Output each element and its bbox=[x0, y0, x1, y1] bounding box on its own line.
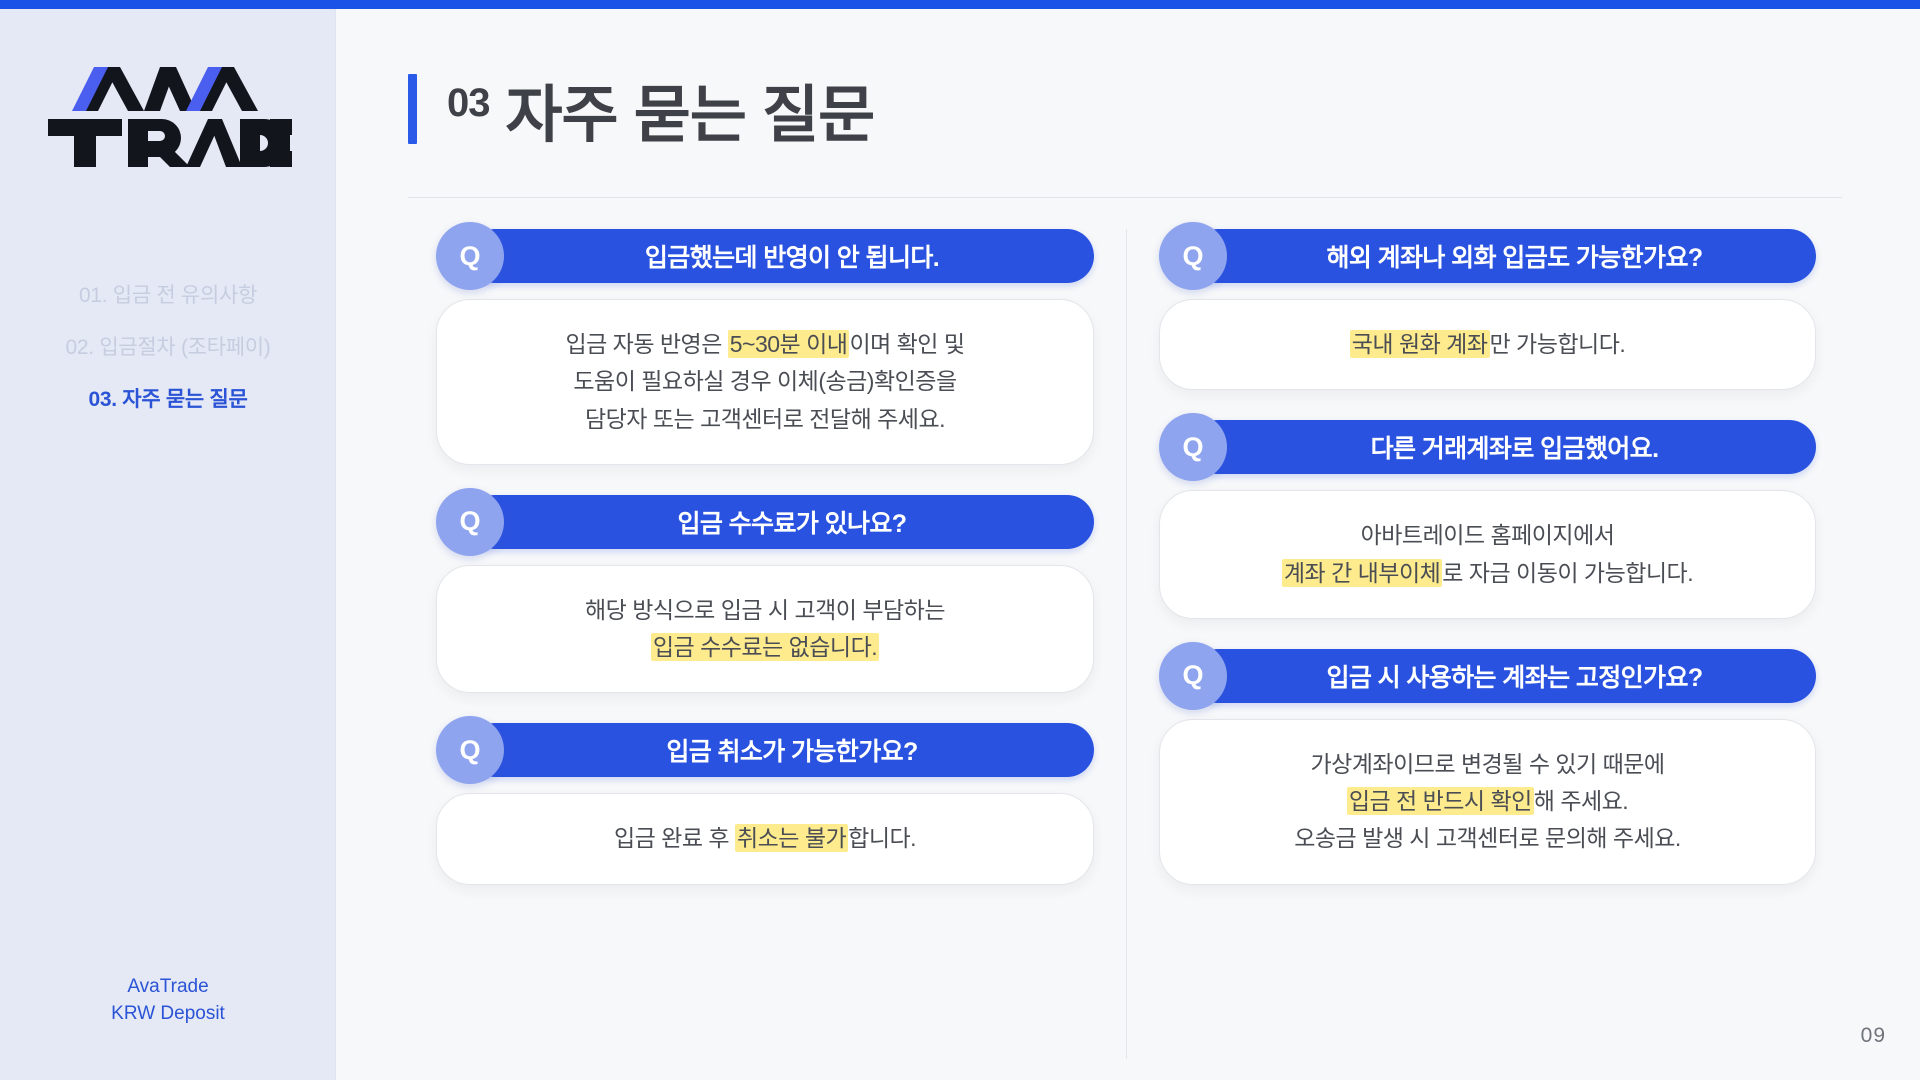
page-title-number: 03 bbox=[447, 81, 490, 126]
answer-text: 담당자 또는 고객센터로 전달해 주세요. bbox=[585, 406, 945, 432]
faq-answer-card: 가상계좌이므로 변경될 수 있기 때문에입금 전 반드시 확인해 주세요.오송금… bbox=[1159, 719, 1816, 885]
title-accent-bar bbox=[408, 74, 417, 144]
sidebar-footer-line2: KRW Deposit bbox=[0, 1000, 336, 1028]
faq-answer-card: 입금 자동 반영은 5~30분 이내이며 확인 및도움이 필요하실 경우 이체(… bbox=[436, 299, 1094, 465]
faq-answer-card: 국내 원화 계좌만 가능합니다. bbox=[1159, 299, 1816, 390]
faq-question-text: 입금했는데 반영이 안 됩니다. bbox=[605, 238, 957, 274]
question-badge-icon: Q bbox=[1159, 642, 1227, 710]
faq-question-text: 다른 거래계좌로 입금했어요. bbox=[1331, 429, 1677, 465]
highlighted-text: 5~30분 이내 bbox=[728, 330, 850, 358]
faq-answer-line: 국내 원화 계좌만 가능합니다. bbox=[1350, 326, 1626, 363]
answer-text: 입금 완료 후 bbox=[614, 825, 735, 851]
faq-answer-line: 계좌 간 내부이체로 자금 이동이 가능합니다. bbox=[1282, 555, 1693, 592]
faq-question-pill[interactable]: Q입금 시 사용하는 계좌는 고정인가요? bbox=[1191, 649, 1816, 703]
faq-answer-line: 입금 자동 반영은 5~30분 이내이며 확인 및 bbox=[565, 326, 964, 363]
faq-answer-line: 아바트레이드 홈페이지에서 bbox=[1361, 517, 1615, 554]
faq-question-pill[interactable]: Q입금 수수료가 있나요? bbox=[468, 495, 1094, 549]
page-title: 03 자주 묻는 질문 bbox=[447, 64, 874, 154]
answer-text: 오송금 발생 시 고객센터로 문의해 주세요. bbox=[1294, 825, 1681, 851]
question-badge-icon: Q bbox=[436, 488, 504, 556]
sidebar-footer: AvaTrade KRW Deposit bbox=[0, 973, 336, 1028]
faq-question-pill[interactable]: Q다른 거래계좌로 입금했어요. bbox=[1191, 420, 1816, 474]
faq-column-left: Q입금했는데 반영이 안 됩니다.입금 자동 반영은 5~30분 이내이며 확인… bbox=[404, 229, 1126, 1059]
logo-wrap bbox=[0, 53, 336, 171]
faq-column-right: Q해외 계좌나 외화 입금도 가능한가요?국내 원화 계좌만 가능합니다.Q다른… bbox=[1126, 229, 1848, 1059]
faq-answer-card: 아바트레이드 홈페이지에서계좌 간 내부이체로 자금 이동이 가능합니다. bbox=[1159, 490, 1816, 619]
sidebar-item-01[interactable]: 01. 입금 전 유의사항 bbox=[79, 279, 257, 309]
faq-block: Q입금 취소가 가능한가요?입금 완료 후 취소는 불가합니다. bbox=[436, 723, 1094, 884]
answer-text: 해 주세요. bbox=[1534, 788, 1628, 814]
question-badge-icon: Q bbox=[1159, 222, 1227, 290]
faq-answer-card: 해당 방식으로 입금 시 고객이 부담하는입금 수수료는 없습니다. bbox=[436, 565, 1094, 694]
faq-block: Q다른 거래계좌로 입금했어요.아바트레이드 홈페이지에서계좌 간 내부이체로 … bbox=[1159, 420, 1816, 619]
faq-answer-line: 가상계좌이므로 변경될 수 있기 때문에 bbox=[1310, 746, 1664, 783]
sidebar-footer-line1: AvaTrade bbox=[0, 973, 336, 1001]
answer-text: 만 가능합니다. bbox=[1490, 331, 1626, 357]
faq-block: Q입금했는데 반영이 안 됩니다.입금 자동 반영은 5~30분 이내이며 확인… bbox=[436, 229, 1094, 465]
highlighted-text: 입금 전 반드시 확인 bbox=[1347, 787, 1534, 815]
title-divider bbox=[408, 197, 1842, 198]
faq-answer-line: 입금 완료 후 취소는 불가합니다. bbox=[614, 820, 916, 857]
faq-answer-line: 오송금 발생 시 고객센터로 문의해 주세요. bbox=[1294, 820, 1681, 857]
page-title-text: 자주 묻는 질문 bbox=[506, 64, 875, 154]
question-badge-icon: Q bbox=[436, 716, 504, 784]
highlighted-text: 입금 수수료는 없습니다. bbox=[651, 633, 879, 661]
faq-answer-card: 입금 완료 후 취소는 불가합니다. bbox=[436, 793, 1094, 884]
avatrade-logo bbox=[44, 53, 292, 171]
highlighted-text: 국내 원화 계좌 bbox=[1350, 330, 1490, 358]
faq-question-pill[interactable]: Q입금했는데 반영이 안 됩니다. bbox=[468, 229, 1094, 283]
page-number: 09 bbox=[1861, 1024, 1886, 1048]
question-badge-icon: Q bbox=[1159, 413, 1227, 481]
faq-question-text: 입금 수수료가 있나요? bbox=[638, 504, 925, 540]
answer-text: 아바트레이드 홈페이지에서 bbox=[1361, 522, 1615, 548]
faq-answer-line: 입금 수수료는 없습니다. bbox=[651, 629, 879, 666]
faq-answer-line: 해당 방식으로 입금 시 고객이 부담하는 bbox=[585, 592, 945, 629]
faq-block: Q입금 수수료가 있나요?해당 방식으로 입금 시 고객이 부담하는입금 수수료… bbox=[436, 495, 1094, 694]
faq-question-text: 입금 취소가 가능한가요? bbox=[626, 732, 935, 768]
top-accent-bar bbox=[0, 0, 1920, 9]
answer-text: 입금 자동 반영은 bbox=[565, 331, 727, 357]
faq-question-pill[interactable]: Q해외 계좌나 외화 입금도 가능한가요? bbox=[1191, 229, 1816, 283]
faq-block: Q입금 시 사용하는 계좌는 고정인가요?가상계좌이므로 변경될 수 있기 때문… bbox=[1159, 649, 1816, 885]
answer-text: 로 자금 이동이 가능합니다. bbox=[1442, 560, 1693, 586]
faq-answer-line: 도움이 필요하실 경우 이체(송금)확인증을 bbox=[573, 363, 956, 400]
answer-text: 가상계좌이므로 변경될 수 있기 때문에 bbox=[1310, 751, 1664, 777]
sidebar-item-03[interactable]: 03. 자주 묻는 질문 bbox=[88, 383, 247, 413]
answer-text: 도움이 필요하실 경우 이체(송금)확인증을 bbox=[573, 368, 956, 394]
faq-question-pill[interactable]: Q입금 취소가 가능한가요? bbox=[468, 723, 1094, 777]
faq-grid: Q입금했는데 반영이 안 됩니다.입금 자동 반영은 5~30분 이내이며 확인… bbox=[404, 229, 1848, 1059]
sidebar: 01. 입금 전 유의사항 02. 입금절차 (조타페이) 03. 자주 묻는 … bbox=[0, 9, 336, 1080]
sidebar-nav[interactable]: 01. 입금 전 유의사항 02. 입금절차 (조타페이) 03. 자주 묻는 … bbox=[0, 279, 336, 413]
answer-text: 해당 방식으로 입금 시 고객이 부담하는 bbox=[585, 597, 945, 623]
faq-block: Q해외 계좌나 외화 입금도 가능한가요?국내 원화 계좌만 가능합니다. bbox=[1159, 229, 1816, 390]
question-badge-icon: Q bbox=[436, 222, 504, 290]
main-content: 03 자주 묻는 질문 Q입금했는데 반영이 안 됩니다.입금 자동 반영은 5… bbox=[336, 9, 1920, 1080]
highlighted-text: 취소는 불가 bbox=[735, 824, 848, 852]
answer-text: 이며 확인 및 bbox=[849, 331, 964, 357]
page-title-row: 03 자주 묻는 질문 bbox=[408, 64, 874, 154]
slide-root: 01. 입금 전 유의사항 02. 입금절차 (조타페이) 03. 자주 묻는 … bbox=[0, 0, 1920, 1080]
faq-answer-line: 담당자 또는 고객센터로 전달해 주세요. bbox=[585, 401, 945, 438]
faq-question-text: 입금 시 사용하는 계좌는 고정인가요? bbox=[1286, 658, 1720, 694]
faq-answer-line: 입금 전 반드시 확인해 주세요. bbox=[1347, 783, 1628, 820]
answer-text: 합니다. bbox=[848, 825, 916, 851]
faq-question-text: 해외 계좌나 외화 입금도 가능한가요? bbox=[1286, 238, 1720, 274]
highlighted-text: 계좌 간 내부이체 bbox=[1282, 559, 1442, 587]
sidebar-item-02[interactable]: 02. 입금절차 (조타페이) bbox=[66, 331, 271, 361]
